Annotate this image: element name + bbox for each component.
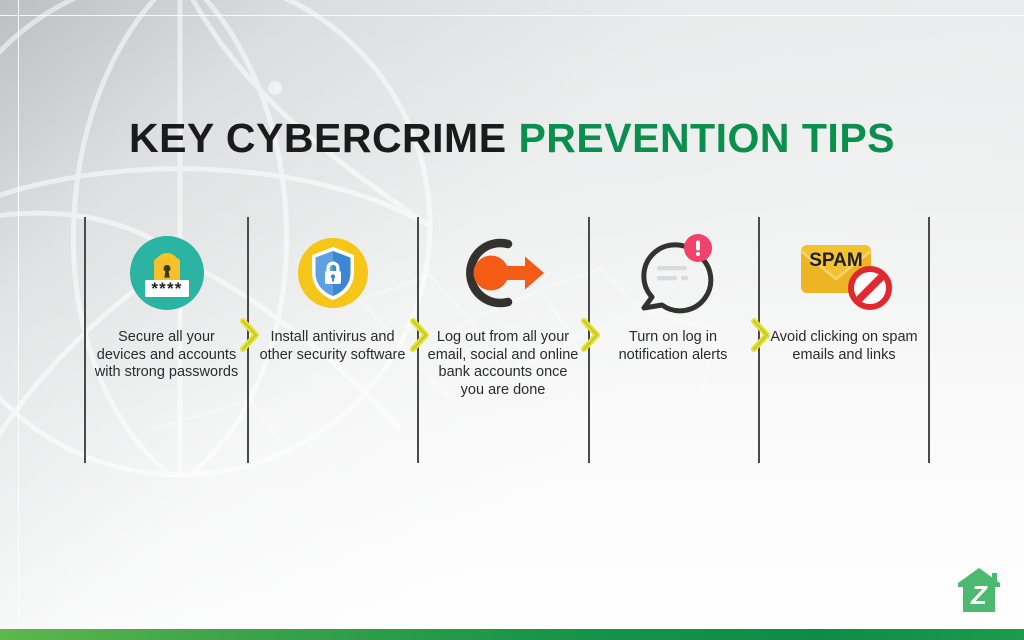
tip-icon-1-wrap: **** bbox=[86, 217, 247, 329]
logout-arrow-icon bbox=[453, 233, 553, 313]
tip-icon-5-wrap: SPAM bbox=[760, 217, 928, 329]
spam-label: SPAM bbox=[809, 250, 862, 271]
page-title-primary: KEY CYBERCRIME bbox=[129, 115, 518, 161]
tip-column-5: SPAM Avoid clicking on spam emails and l… bbox=[760, 217, 928, 463]
tip-caption-5: Avoid clicking on spam emails and links bbox=[760, 329, 928, 364]
footer-green-bar bbox=[0, 629, 1024, 640]
page-title: KEY CYBERCRIME PREVENTION TIPS bbox=[0, 115, 1024, 162]
tip-caption-1: Secure all your devices and accounts wit… bbox=[86, 329, 247, 382]
padlock-password-icon: **** bbox=[128, 234, 206, 312]
page-title-accent: PREVENTION TIPS bbox=[518, 115, 895, 161]
svg-text:****: **** bbox=[151, 279, 182, 298]
chat-notification-alert-icon bbox=[628, 231, 718, 315]
column-divider bbox=[417, 217, 419, 463]
tip-caption-2: Install antivirus and other security sof… bbox=[250, 329, 415, 364]
spam-email-blocked-icon: SPAM bbox=[792, 233, 896, 313]
tip-column-1: **** Secure all your devices and account… bbox=[86, 217, 247, 463]
tip-caption-4: Turn on log in notification alerts bbox=[590, 329, 756, 364]
tip-column-2: Install antivirus and other security sof… bbox=[250, 217, 415, 463]
infographic-slide: KEY CYBERCRIME PREVENTION TIPS bbox=[0, 0, 1024, 640]
tip-column-4: Turn on log in notification alerts bbox=[590, 217, 756, 463]
logo-letter: Z bbox=[970, 580, 988, 610]
tip-icon-4-wrap bbox=[590, 217, 756, 329]
green-house-z-logo[interactable]: Z bbox=[956, 566, 1002, 614]
column-divider bbox=[928, 217, 930, 463]
guide-line-horizontal bbox=[0, 15, 1024, 16]
column-divider bbox=[247, 217, 249, 463]
tip-icon-3-wrap bbox=[420, 217, 586, 329]
tips-row: **** Secure all your devices and account… bbox=[84, 217, 930, 463]
shield-lock-icon bbox=[294, 234, 372, 312]
tip-icon-2-wrap bbox=[250, 217, 415, 329]
guide-line-vertical bbox=[18, 0, 19, 640]
tip-caption-3: Log out from all your email, social and … bbox=[420, 329, 586, 399]
tip-column-3: Log out from all your email, social and … bbox=[420, 217, 586, 463]
